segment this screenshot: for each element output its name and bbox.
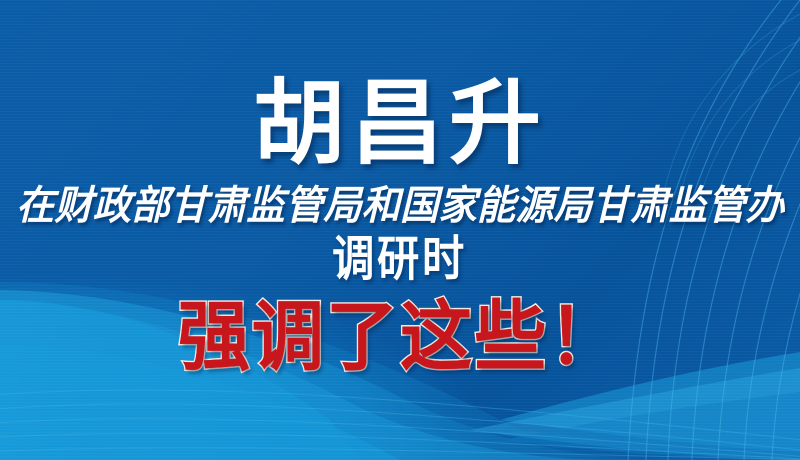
text-block: 胡昌升 在财政部甘肃监管局和国家能源局甘肃监管办 调研时 强调了这些！ bbox=[0, 0, 800, 460]
page-title: 胡昌升 bbox=[253, 78, 547, 170]
subtitle-line-1: 在财政部甘肃监管局和国家能源局甘肃监管办 bbox=[16, 186, 784, 226]
subtitle-line-2: 调研时 bbox=[333, 236, 468, 284]
headline-emphasis: 强调了这些！ bbox=[178, 300, 623, 376]
poster-banner: 胡昌升 在财政部甘肃监管局和国家能源局甘肃监管办 调研时 强调了这些！ bbox=[0, 0, 800, 460]
